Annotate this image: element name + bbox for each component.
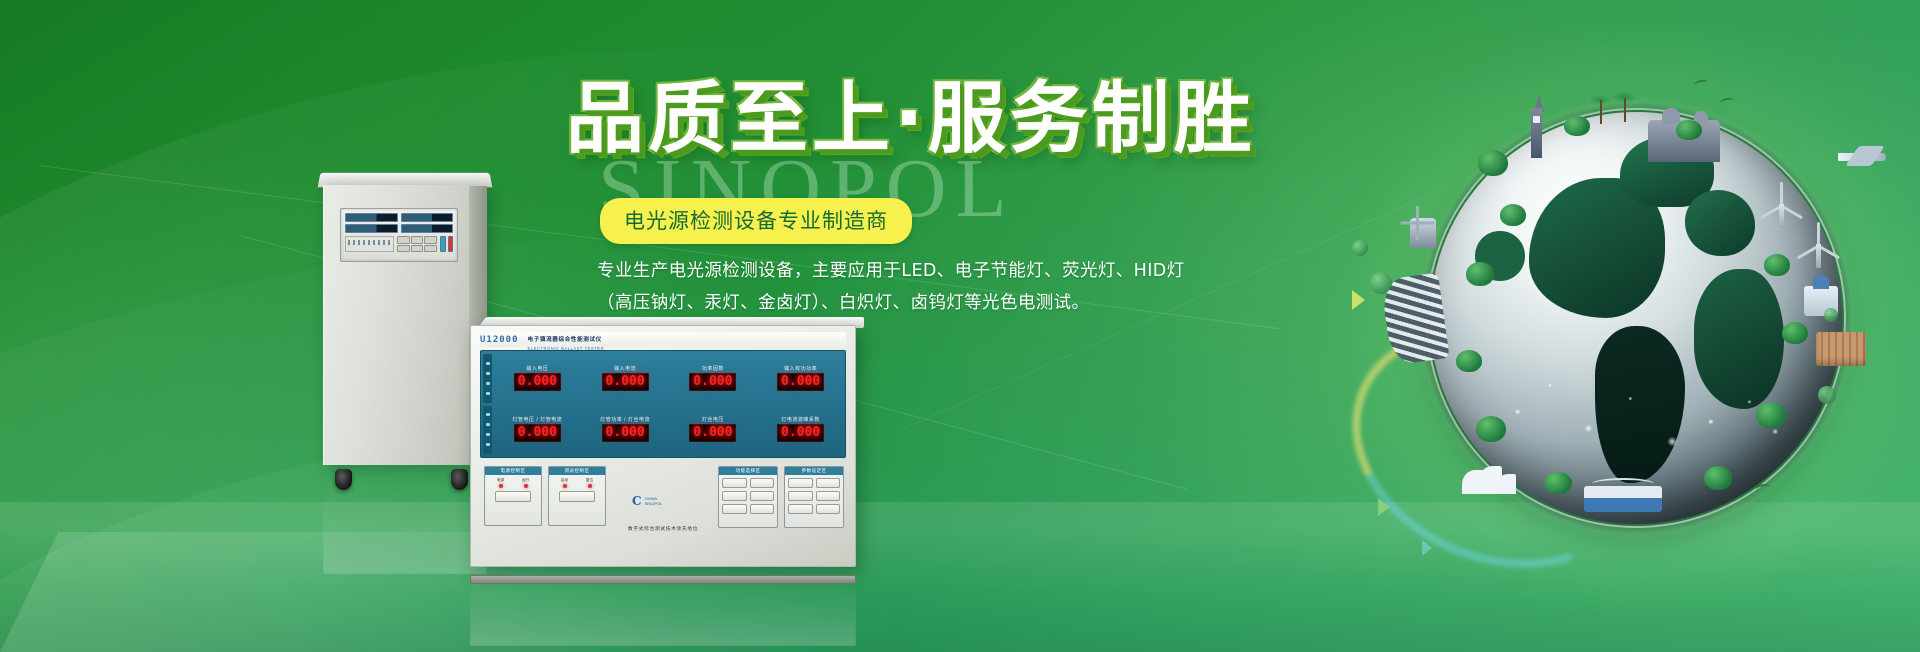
decor-bubble	[1352, 240, 1368, 256]
meter-cell: 灯电流波峰系数 0.000	[758, 406, 843, 455]
meter-cell: 灯丝电压 0.000	[671, 406, 756, 455]
description-line-2: （高压钠灯、汞灯、金卤灯）、白炽灯、卤钨灯等光色电测试。	[597, 287, 1137, 319]
function-keypad[interactable]	[719, 475, 777, 517]
bridge-icon	[1584, 486, 1662, 512]
cabinet-keypad[interactable]	[397, 236, 437, 252]
cabinet-control-panel	[340, 208, 458, 262]
meter-display: 0.000	[777, 373, 824, 391]
meter-label: 灯丝电压	[702, 417, 724, 423]
tester-header: U12000 电子镇流器综合性能测试仪 ELECTRONIC BALLAST T…	[480, 332, 846, 347]
accent-triangle-yellow	[1352, 290, 1365, 310]
parameter-key[interactable]	[788, 478, 813, 488]
cabinet-key[interactable]	[397, 245, 410, 253]
wind-turbine-icon	[1796, 222, 1842, 268]
meter-label: 灯管电压 / 灯管电流	[513, 417, 563, 423]
parameter-key[interactable]	[816, 478, 841, 488]
group-caption: 参数设定区	[785, 467, 843, 475]
tree-icon	[1676, 120, 1702, 140]
ballast-tester: U12000 电子镇流器综合性能测试仪 ELECTRONIC BALLAST T…	[470, 325, 860, 575]
tree-icon	[1478, 150, 1508, 176]
meter-display: 0.000	[777, 424, 824, 442]
meter-rail	[483, 406, 492, 455]
parameter-key[interactable]	[788, 491, 813, 501]
tree-icon	[1704, 466, 1732, 490]
group-caption: 功能选择区	[719, 467, 777, 475]
parameter-keypad-group: 参数设定区	[784, 466, 844, 528]
function-key[interactable]	[750, 478, 775, 488]
function-key[interactable]	[722, 491, 747, 501]
cabinet-switch-red[interactable]	[448, 236, 454, 252]
cabinet-display	[401, 224, 454, 233]
brand-logo-icon: C	[632, 494, 642, 508]
indicator-lamp: 复位	[586, 478, 593, 488]
parameter-key[interactable]	[816, 504, 841, 514]
tagline-badge: 电光源检测设备专业制造商	[600, 198, 912, 244]
decor-bubble	[1818, 386, 1836, 404]
cabinet-caster-right	[451, 469, 468, 490]
description-paragraph: 专业生产电光源检测设备，主要应用于LED、电子节能灯、荧光灯、HID灯 （高压钠…	[597, 255, 1137, 319]
tester-footer-note: 数字式综合测试技术领先地位	[628, 526, 698, 532]
colosseum-icon	[1816, 332, 1866, 366]
cabinet-display-row-1	[345, 213, 453, 222]
function-key[interactable]	[722, 504, 747, 514]
power-control-group: 电源控制区 电源 运行	[484, 466, 542, 526]
cabinet-key[interactable]	[424, 236, 437, 244]
power-cabinet	[323, 172, 487, 472]
brand-line-2: SINOPOL	[645, 501, 663, 506]
meter-display: 0.000	[514, 424, 561, 442]
tree-icon	[1764, 254, 1790, 276]
group-caption: 测试控制区	[549, 467, 605, 475]
group-body: 电源 运行	[485, 475, 541, 505]
meter-label: 灯电流波峰系数	[781, 417, 820, 423]
tree-icon	[1500, 204, 1526, 226]
promo-banner: 品质至上·服务制胜 SINOPOL 电光源检测设备专业制造商 专业生产电光源检测…	[0, 0, 1920, 652]
meter-cell: 功率因数 0.000	[671, 354, 756, 403]
accent-triangle-green	[1378, 498, 1390, 516]
tree-icon	[1756, 402, 1786, 428]
function-key[interactable]	[750, 504, 775, 514]
meter-cell: 灯管电压 / 灯管电流 0.000	[495, 406, 580, 455]
lamp-row: 电源 运行	[488, 478, 538, 488]
meter-cell: 灯管功率 / 灯丝电流 0.000	[583, 406, 668, 455]
cabinet-caster-left	[335, 469, 352, 490]
meter-cell: 输入有功功率 0.000	[758, 354, 843, 403]
indicator-lamp: 运行	[522, 478, 529, 488]
parameter-key[interactable]	[788, 504, 813, 514]
tester-meter-area: 输入电压 0.000 输入电流 0.000 功率因数 0.000 输入有功功率 …	[480, 350, 846, 458]
function-key[interactable]	[750, 491, 775, 501]
cabinet-lower-row	[345, 236, 453, 252]
function-keypad-group: 功能选择区	[718, 466, 778, 528]
cabinet-key[interactable]	[424, 245, 437, 253]
cabinet-switch-blue[interactable]	[440, 236, 446, 252]
cabinet-display	[401, 213, 454, 222]
indicator-lamp: 电源	[497, 478, 504, 488]
parameter-keypad[interactable]	[785, 475, 843, 517]
eco-globe	[1404, 86, 1874, 556]
tree-icon	[1476, 416, 1506, 442]
cabinet-display	[345, 213, 398, 222]
decor-bubble	[1370, 272, 1392, 294]
tester-base	[470, 575, 856, 584]
power-button[interactable]	[495, 491, 531, 502]
cabinet-display	[345, 224, 398, 233]
tree-icon	[1782, 322, 1808, 344]
cabinet-logo-strip	[345, 236, 394, 252]
tree-icon	[1544, 472, 1572, 494]
airplane-icon	[1834, 144, 1892, 170]
meter-row-bottom: 灯管电压 / 灯管电流 0.000 灯管功率 / 灯丝电流 0.000 灯丝电压…	[483, 406, 843, 455]
meter-row-top: 输入电压 0.000 输入电流 0.000 功率因数 0.000 输入有功功率 …	[483, 354, 843, 403]
indicator-lamp: 启动	[561, 478, 568, 488]
group-body: 启动 复位	[549, 475, 605, 505]
meter-cell: 输入电压 0.000	[495, 354, 580, 403]
decor-bubble	[1824, 308, 1838, 322]
lamp-row: 启动 复位	[552, 478, 602, 488]
start-button[interactable]	[559, 491, 595, 502]
function-key[interactable]	[722, 478, 747, 488]
group-caption: 电源控制区	[485, 467, 541, 475]
meter-rail	[483, 354, 492, 403]
tester-brand: C CHINA SINOPOL	[632, 494, 662, 508]
parameter-key[interactable]	[816, 491, 841, 501]
meter-label: 功率因数	[702, 365, 724, 372]
tester-title-block: 电子镇流器综合性能测试仪 ELECTRONIC BALLAST TESTER	[528, 328, 605, 351]
meter-display: 0.000	[514, 373, 561, 391]
palm-trees-icon	[1586, 92, 1640, 126]
tree-icon	[1564, 116, 1590, 136]
meter-label: 输入有功功率	[784, 365, 817, 372]
meter-display: 0.000	[602, 373, 649, 391]
tree-icon	[1456, 350, 1482, 372]
tester-model: U12000	[480, 335, 519, 345]
brand-name: CHINA SINOPOL	[645, 496, 663, 506]
cabinet-display-row-2	[345, 224, 453, 233]
meter-label: 灯管功率 / 灯丝电流	[600, 417, 650, 423]
opera-house-icon	[1462, 464, 1518, 494]
meter-label: 输入电流	[614, 365, 636, 372]
tester-control-area: 电源控制区 电源 运行 测试控制区 启动 复位	[480, 462, 846, 558]
big-ben-icon	[1526, 94, 1546, 158]
accent-triangle-cyan	[1422, 540, 1432, 556]
tester-title-cn: 电子镇流器综合性能测试仪	[528, 337, 602, 343]
test-control-group: 测试控制区 启动 复位	[548, 466, 606, 526]
meter-cell: 输入电流 0.000	[583, 354, 668, 403]
cabinet-key[interactable]	[397, 236, 410, 244]
meter-display: 0.000	[602, 424, 649, 442]
meter-display: 0.000	[689, 373, 736, 391]
cabinet-switches[interactable]	[440, 236, 453, 252]
cabinet-key[interactable]	[411, 245, 424, 253]
cabinet-key[interactable]	[411, 236, 424, 244]
meter-display: 0.000	[689, 424, 736, 442]
meter-label: 输入电压	[526, 365, 548, 372]
dutch-windmill-icon	[1396, 204, 1448, 254]
description-line-1: 专业生产电光源检测设备，主要应用于LED、电子节能灯、荧光灯、HID灯	[597, 255, 1137, 287]
tree-icon	[1466, 262, 1494, 286]
